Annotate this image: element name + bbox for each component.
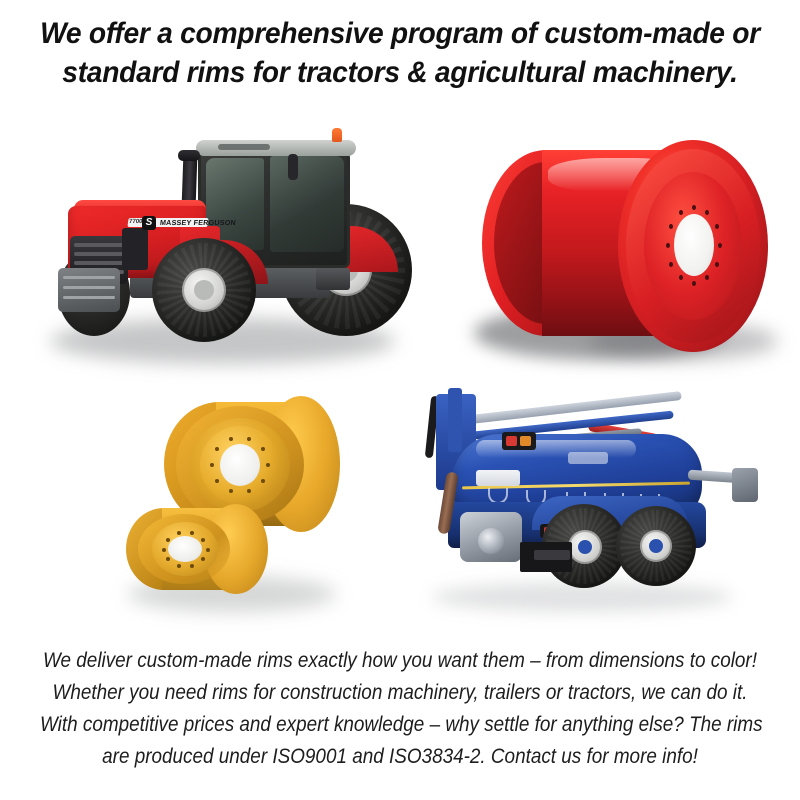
- bolt-hole: [715, 224, 719, 229]
- tractor-hitch: [316, 268, 350, 290]
- bolt-hole: [266, 463, 270, 467]
- bolt-hole: [229, 489, 233, 493]
- bolt-hole: [177, 564, 181, 568]
- bolt-hole: [247, 489, 251, 493]
- blue-tanker-photo: [392, 376, 792, 626]
- tractor-series-badge: S: [142, 216, 156, 230]
- tractor-brand-text: MASSEY FERGUSON: [159, 217, 222, 228]
- tanker-pump-flange: [478, 528, 504, 554]
- tanker-marker-light-amber: [520, 436, 531, 446]
- tractor-mid-hub-center: [194, 280, 214, 300]
- bolt-hole: [190, 564, 194, 568]
- yellow-rims-photo: [112, 390, 348, 626]
- bolt-hole: [261, 479, 265, 483]
- bolt-hole: [666, 243, 670, 248]
- bolt-hole: [705, 210, 709, 215]
- bolt-hole: [247, 437, 251, 441]
- bolt-hole: [718, 243, 722, 248]
- page-title: We offer a comprehensive program of cust…: [0, 14, 800, 92]
- bolt-hole: [715, 262, 719, 267]
- headline-line-1: We offer a comprehensive program of cust…: [24, 14, 776, 53]
- bolt-hole: [215, 479, 219, 483]
- tractor-mirror: [288, 154, 298, 180]
- bolt-hole: [210, 463, 214, 467]
- bolt-hole: [669, 224, 673, 229]
- yellow-small-rim-center-bore: [168, 536, 202, 562]
- tractor-exhaust-cap: [178, 150, 200, 161]
- bolt-hole: [166, 557, 170, 561]
- tractor-model-text: 7700: [129, 219, 143, 225]
- tractor-front-weight: [58, 268, 120, 312]
- tanker-side-decal: [476, 470, 520, 486]
- bolt-hole: [679, 275, 683, 280]
- bolt-hole: [162, 548, 166, 552]
- bolt-hole: [669, 262, 673, 267]
- tractor-roof-bar: [218, 144, 270, 150]
- bolt-hole: [166, 538, 170, 542]
- bolt-hole: [201, 557, 205, 561]
- bolt-hole: [705, 275, 709, 280]
- tanker-marker-light-red: [506, 436, 517, 446]
- tanker-mud-flap: [520, 542, 572, 572]
- product-photo-collage: 7700 S MASSEY FERGUSON: [0, 108, 800, 633]
- tanker-tank-highlight: [476, 440, 636, 458]
- body-line-4: are produced under ISO9001 and ISO3834-2…: [40, 741, 760, 773]
- tanker-hub-rear: [640, 530, 672, 562]
- tractor-hood-vent: [122, 228, 148, 270]
- body-line-3: With competitive prices and expert knowl…: [40, 709, 760, 741]
- headline-line-2: standard rims for tractors & agricultura…: [24, 53, 776, 92]
- tanker-hub-front: [568, 530, 602, 564]
- bolt-hole: [201, 538, 205, 542]
- bolt-hole: [261, 447, 265, 451]
- bolt-hole: [206, 548, 210, 552]
- yellow-big-rim-center-bore: [220, 444, 260, 486]
- bolt-hole: [692, 281, 696, 286]
- tractor-photo: 7700 S MASSEY FERGUSON: [30, 118, 410, 383]
- body-line-1: We deliver custom-made rims exactly how …: [40, 645, 760, 677]
- body-copy: We deliver custom-made rims exactly how …: [0, 645, 800, 773]
- tanker-hitch: [732, 468, 758, 502]
- tractor-beacon-light: [332, 128, 342, 142]
- tractor-cab-window-rear: [270, 156, 344, 252]
- tanker-frame-post: [448, 388, 462, 452]
- body-line-2: Whether you need rims for construction m…: [40, 677, 760, 709]
- bolt-hole: [177, 531, 181, 535]
- bolt-hole: [692, 205, 696, 210]
- bolt-hole: [215, 447, 219, 451]
- bolt-hole: [679, 210, 683, 215]
- red-rim-center-bore: [674, 214, 714, 276]
- tractor-mid-hub: [182, 268, 226, 312]
- red-rim-photo: [468, 136, 788, 386]
- promo-graphic: We offer a comprehensive program of cust…: [0, 0, 800, 800]
- bolt-hole: [229, 437, 233, 441]
- bolt-hole: [190, 531, 194, 535]
- tanker-tank-logo: [568, 452, 608, 464]
- tanker-mud-flap-decal: [534, 550, 570, 560]
